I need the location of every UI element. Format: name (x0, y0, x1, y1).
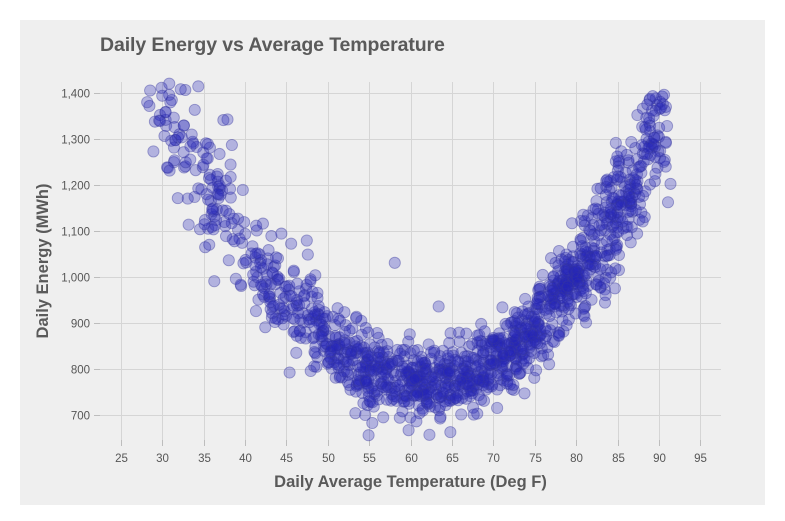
data-point (176, 132, 187, 143)
x-tick-label: 80 (570, 453, 583, 465)
data-point (286, 291, 297, 302)
data-point (248, 269, 259, 280)
data-point (182, 193, 193, 204)
data-point (268, 300, 279, 311)
data-point (395, 348, 406, 359)
data-point (483, 373, 494, 384)
data-point (378, 412, 389, 423)
data-point (548, 285, 559, 296)
data-point (403, 425, 414, 436)
x-tick-label: 95 (694, 453, 707, 465)
data-point (280, 281, 291, 292)
data-point (595, 264, 606, 275)
data-point (435, 413, 446, 424)
data-point (342, 377, 353, 388)
data-point (578, 303, 589, 314)
data-point (557, 315, 568, 326)
x-tick-label: 75 (529, 453, 542, 465)
data-point (473, 374, 484, 385)
data-point (188, 138, 199, 149)
data-point (250, 305, 261, 316)
data-point (613, 264, 624, 275)
data-point (225, 171, 236, 182)
y-tick-label: 700 (71, 411, 90, 423)
data-point (207, 204, 218, 215)
x-tick-label: 30 (156, 453, 169, 465)
data-point (175, 84, 186, 95)
data-point (185, 154, 196, 165)
data-point (634, 214, 645, 225)
data-point (417, 367, 428, 378)
data-point (660, 137, 671, 148)
data-point (309, 321, 320, 332)
data-point (367, 417, 378, 428)
data-point (196, 184, 207, 195)
data-point (648, 132, 659, 143)
data-point (626, 136, 637, 147)
data-point (339, 307, 350, 318)
data-point (444, 367, 455, 378)
x-tick-label: 85 (612, 453, 625, 465)
chart-panel: Daily Energy vs Average Temperature 7008… (20, 20, 765, 505)
y-tick-label: 1,100 (61, 227, 90, 239)
data-point (497, 349, 508, 360)
data-point (544, 359, 555, 370)
data-point (160, 107, 171, 118)
data-point (311, 361, 322, 372)
data-point (208, 224, 219, 235)
data-point (662, 197, 673, 208)
data-point (178, 120, 189, 131)
data-point (516, 344, 527, 355)
scatter-plot: 7008009001,0001,1001,2001,3001,400 25303… (20, 20, 765, 505)
data-point (145, 85, 156, 96)
data-point (292, 278, 303, 289)
data-point (632, 109, 643, 120)
data-point (385, 359, 396, 370)
data-point (347, 323, 358, 334)
data-point (428, 372, 439, 383)
data-point (411, 416, 422, 427)
data-point (461, 328, 472, 339)
data-point (267, 267, 278, 278)
data-point (519, 388, 530, 399)
data-point (562, 281, 573, 292)
y-axis-tick-marks (94, 94, 100, 416)
data-point (513, 317, 524, 328)
data-point (456, 409, 467, 420)
data-point (655, 102, 666, 113)
data-point (266, 230, 277, 241)
data-point (345, 348, 356, 359)
data-point (592, 183, 603, 194)
data-point (440, 399, 451, 410)
data-point (593, 208, 604, 219)
data-point (580, 317, 591, 328)
data-point (566, 218, 577, 229)
data-point (218, 114, 229, 125)
data-point (453, 356, 464, 367)
data-point (183, 219, 194, 230)
data-point (229, 236, 240, 247)
data-point (468, 409, 479, 420)
data-point (286, 238, 297, 249)
data-point (209, 276, 220, 287)
data-point (371, 327, 382, 338)
data-point (608, 172, 619, 183)
data-point (291, 347, 302, 358)
data-point (528, 336, 539, 347)
data-point (193, 81, 204, 92)
data-point (256, 279, 267, 290)
data-point (356, 315, 367, 326)
x-axis-tick-marks (122, 440, 701, 446)
data-point (520, 355, 531, 366)
x-tick-label: 40 (239, 453, 252, 465)
data-point (530, 314, 541, 325)
data-point (142, 97, 153, 108)
data-point (235, 279, 246, 290)
x-axis-label: Daily Average Temperature (Deg F) (274, 473, 547, 491)
data-point (631, 179, 642, 190)
data-point (362, 378, 373, 389)
y-tick-label: 1,400 (61, 89, 90, 101)
data-point (365, 396, 376, 407)
data-point (164, 165, 175, 176)
data-point (399, 363, 410, 374)
data-point (214, 148, 225, 159)
data-point (501, 371, 512, 382)
y-tick-label: 1,300 (61, 135, 90, 147)
data-point (317, 331, 328, 342)
data-point (600, 289, 611, 300)
data-point (610, 244, 621, 255)
data-point (497, 302, 508, 313)
x-tick-label: 70 (487, 453, 500, 465)
data-point (381, 380, 392, 391)
data-point (166, 135, 177, 146)
data-point (305, 276, 316, 287)
data-point (270, 252, 281, 263)
data-point (472, 360, 483, 371)
data-point (365, 350, 376, 361)
data-point (437, 387, 448, 398)
data-point (661, 120, 672, 131)
data-point (330, 343, 341, 354)
data-point (164, 78, 175, 89)
data-point (157, 90, 168, 101)
y-tick-label: 800 (71, 365, 90, 377)
x-tick-label: 90 (653, 453, 666, 465)
y-tick-label: 1,200 (61, 181, 90, 193)
data-point (604, 207, 615, 218)
x-tick-label: 60 (405, 453, 418, 465)
data-point (548, 271, 559, 282)
data-point (510, 328, 521, 339)
data-point (299, 298, 310, 309)
data-point (623, 191, 634, 202)
data-point (534, 281, 545, 292)
data-point (251, 220, 262, 231)
data-point (578, 285, 589, 296)
data-point (198, 159, 209, 170)
x-tick-label: 35 (198, 453, 211, 465)
data-point (276, 228, 287, 239)
data-point (450, 393, 461, 404)
data-point (284, 367, 295, 378)
data-point (355, 362, 366, 373)
data-point (609, 283, 620, 294)
data-point (288, 265, 299, 276)
x-tick-label: 25 (115, 453, 128, 465)
x-tick-label: 65 (446, 453, 459, 465)
data-point (301, 235, 312, 246)
y-tick-label: 1,000 (61, 273, 90, 285)
x-axis-tick-labels: 253035404550556065707580859095 (115, 453, 707, 465)
data-point (239, 217, 250, 228)
data-point (426, 347, 437, 358)
data-point (412, 389, 423, 400)
data-point (488, 332, 499, 343)
data-point (568, 266, 579, 277)
data-point (424, 429, 435, 440)
data-point (403, 336, 414, 347)
data-point (598, 278, 609, 289)
data-point (413, 400, 424, 411)
data-point (400, 390, 411, 401)
data-point (575, 234, 586, 245)
data-point (445, 427, 456, 438)
data-point (225, 159, 236, 170)
data-point (642, 99, 653, 110)
data-point (492, 402, 503, 413)
data-point (553, 329, 564, 340)
data-point (537, 269, 548, 280)
data-point (309, 307, 320, 318)
x-tick-label: 55 (363, 453, 376, 465)
data-point (205, 174, 216, 185)
data-point (148, 146, 159, 157)
data-point (585, 253, 596, 264)
data-point (226, 139, 237, 150)
data-point (224, 209, 235, 220)
data-point (350, 386, 361, 397)
data-point (485, 354, 496, 365)
data-point (416, 355, 427, 366)
data-point (658, 156, 669, 167)
data-point (326, 363, 337, 374)
data-point (363, 430, 374, 441)
data-point (212, 188, 223, 199)
data-point (295, 332, 306, 343)
data-point (445, 328, 456, 339)
data-point (665, 178, 676, 189)
data-point (237, 184, 248, 195)
y-axis-tick-labels: 7008009001,0001,1001,2001,3001,400 (61, 89, 90, 423)
data-point (599, 250, 610, 261)
data-point (520, 293, 531, 304)
data-point (189, 104, 200, 115)
y-tick-label: 900 (71, 319, 90, 331)
data-point (246, 248, 257, 259)
data-point (302, 249, 313, 260)
data-point (650, 168, 661, 179)
data-point (223, 255, 234, 266)
data-point (200, 138, 211, 149)
data-point (532, 295, 543, 306)
x-tick-label: 45 (280, 453, 293, 465)
data-point (200, 242, 211, 253)
data-point (376, 366, 387, 377)
data-point (465, 391, 476, 402)
data-point (613, 226, 624, 237)
data-point (433, 301, 444, 312)
data-point (389, 257, 400, 268)
data-point (350, 408, 361, 419)
y-axis-label: Daily Energy (MWh) (34, 184, 52, 339)
data-point (588, 219, 599, 230)
data-point (310, 348, 321, 359)
data-point (601, 236, 612, 247)
data-point (616, 146, 627, 157)
x-tick-label: 50 (322, 453, 335, 465)
data-point (607, 192, 618, 203)
